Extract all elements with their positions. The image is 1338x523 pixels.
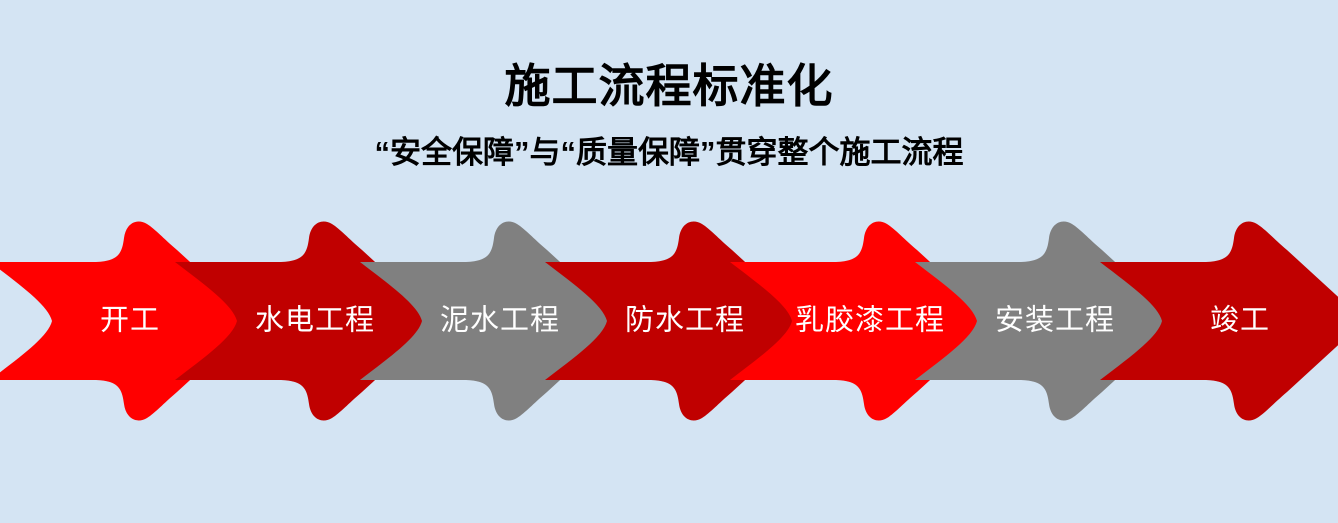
- flow-arrow-label-4: 防水工程: [625, 304, 745, 337]
- flow-arrow-label-3: 泥水工程: [440, 304, 560, 337]
- flow-arrow-label-5: 乳胶漆工程: [795, 304, 945, 337]
- flow-arrow-label-7: 竣工: [1210, 304, 1270, 337]
- page-subtitle: “安全保障”与“质量保障”贯穿整个施工流程: [0, 136, 1338, 170]
- flow-arrow-label-2: 水电工程: [255, 304, 375, 337]
- process-flow-diagram: 开工水电工程泥水工程防水工程乳胶漆工程安装工程竣工: [0, 205, 1338, 435]
- flow-arrow-label-1: 开工: [100, 305, 160, 337]
- slide-canvas: 施工流程标准化 “安全保障”与“质量保障”贯穿整个施工流程 开工水电工程泥水工程…: [0, 0, 1338, 523]
- flow-arrows-svg: 开工水电工程泥水工程防水工程乳胶漆工程安装工程竣工: [0, 205, 1338, 435]
- flow-arrow-label-6: 安装工程: [995, 304, 1115, 337]
- arrow-label-layer: 开工水电工程泥水工程防水工程乳胶漆工程安装工程竣工: [100, 304, 1270, 337]
- page-title: 施工流程标准化: [0, 62, 1338, 110]
